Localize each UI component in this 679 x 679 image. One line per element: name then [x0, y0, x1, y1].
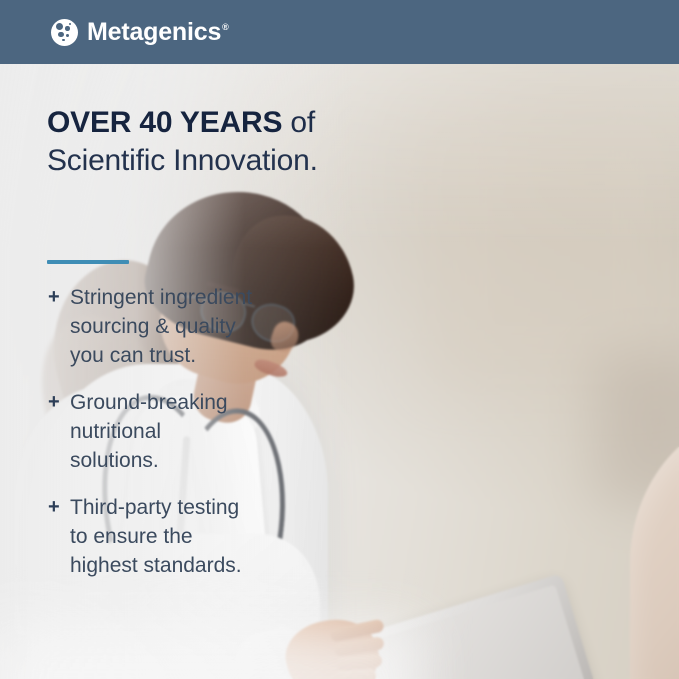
list-item: + Stringent ingredient sourcing & qualit… — [44, 283, 374, 370]
plus-icon: + — [44, 283, 70, 312]
marketing-copy-block: OVER 40 YEARS of Scientific Innovation. … — [0, 64, 420, 679]
benefits-list: + Stringent ingredient sourcing & qualit… — [44, 283, 374, 598]
list-item: + Third-party testing to ensure the high… — [44, 493, 374, 580]
list-item-label: Third-party testing to ensure the highes… — [70, 493, 242, 580]
patient-head — [672, 244, 679, 455]
registered-trademark-icon: ® — [222, 22, 228, 32]
brand-name-text: Metagenics — [87, 18, 221, 46]
plus-icon: + — [44, 493, 70, 522]
list-item-label: Ground-breaking nutritional solutions. — [70, 388, 228, 475]
plus-icon: + — [44, 388, 70, 417]
metagenics-circle-bubbles-logo-icon — [51, 19, 78, 46]
list-item-label: Stringent ingredient sourcing & quality … — [70, 283, 252, 370]
logo-bubble — [62, 39, 65, 42]
page-title: OVER 40 YEARS of Scientific Innovation. — [47, 104, 387, 180]
logo-bubble — [58, 32, 64, 38]
brand-lockup[interactable]: Metagenics® — [51, 19, 229, 46]
list-item: + Ground-breaking nutritional solutions. — [44, 388, 374, 475]
accent-divider-rule — [47, 260, 129, 264]
hero-stage: OVER 40 YEARS of Scientific Innovation. … — [0, 64, 679, 679]
header-bar: Metagenics® — [0, 0, 679, 64]
brand-wordmark: Metagenics® — [87, 20, 229, 45]
logo-bubble — [56, 23, 63, 30]
logo-bubble — [66, 34, 69, 37]
metagenics-brand-banner: Metagenics® — [0, 0, 679, 679]
patient-hair — [659, 221, 679, 449]
headline-line-two: Scientific Innovation. — [47, 142, 387, 180]
headline-emphasis: OVER 40 YEARS — [47, 106, 282, 139]
headline-suffix: of — [282, 106, 315, 139]
logo-bubble — [69, 23, 71, 25]
logo-bubble — [65, 26, 70, 31]
patient-sweater — [630, 414, 679, 679]
background-blur-shape — [0, 624, 420, 679]
